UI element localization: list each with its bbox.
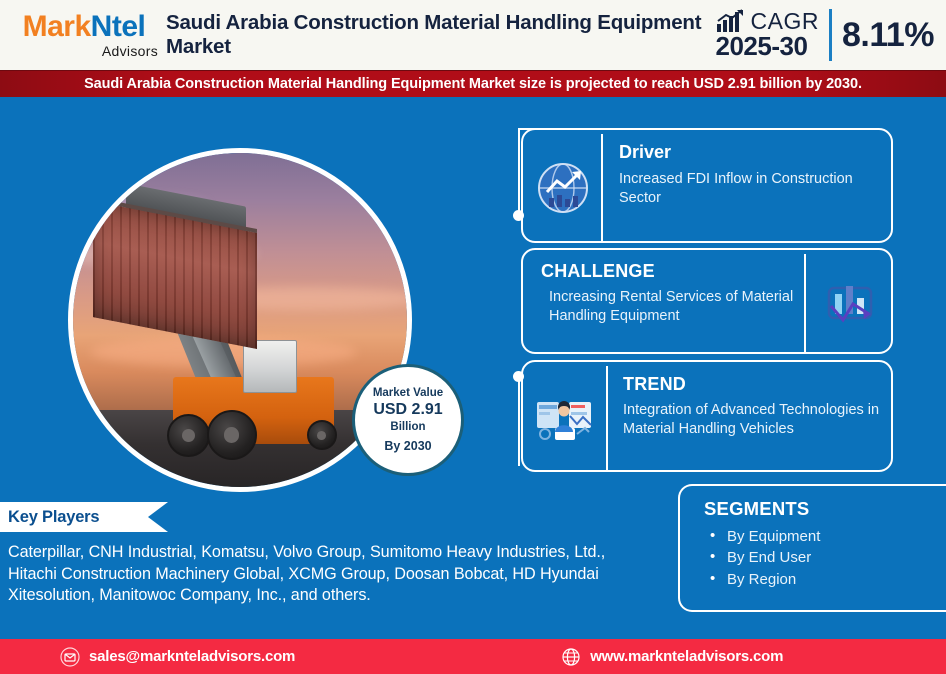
header-bar: MarkNtel Advisors Saudi Arabia Construct… [0,0,946,70]
segments-list: By Equipment By End User By Region [710,526,820,590]
globe-icon [561,647,581,667]
cagr-value: 8.11% [842,18,934,52]
segments-title: SEGMENTS [704,498,809,520]
infographic-page: MarkNtel Advisors Saudi Arabia Construct… [0,0,946,674]
card-divider [606,366,608,470]
driver-card[interactable]: Driver Increased FDI Inflow in Construct… [521,128,893,243]
person-dashboard-icon [533,394,595,442]
logo-wordmark: MarkNtel [23,12,146,42]
card-divider [804,254,806,352]
driver-card-title: Driver [619,142,671,163]
page-title: Saudi Arabia Construction Material Handl… [158,11,716,59]
market-value-badge: Market Value USD 2.91 Billion By 2030 [352,364,464,476]
market-value-year: By 2030 [384,439,431,454]
key-players-label: Key Players [0,508,99,527]
cagr-label-group: CAGR 2025-30 [716,9,829,60]
globe-growth-icon [537,162,589,214]
key-players-arrow-icon [148,502,168,532]
wheel-hub [182,429,195,442]
footer-email[interactable]: sales@marknteladvisors.com [60,647,295,667]
logo-tagline: Advisors [102,43,158,59]
market-value-amount: USD 2.91 [373,401,442,420]
logo-word-mark: Mark [23,10,91,43]
cagr-top-row: CAGR [716,9,819,33]
trend-card-description: Integration of Advanced Technologies in … [623,401,885,438]
footer-website-text: www.marknteladvisors.com [590,648,783,665]
logo-word-ntel: Ntel [91,10,146,43]
footer-website[interactable]: www.marknteladvisors.com [561,647,783,667]
connector-line [518,381,520,466]
wheel-hub [317,431,326,440]
wheel [307,420,337,450]
wheel [207,410,257,460]
footer-bar: sales@marknteladvisors.com www.markntela… [0,639,946,674]
cagr-label: CAGR [751,10,819,33]
challenge-card-description: Increasing Rental Services of Material H… [549,288,799,325]
challenge-card-title: CHALLENGE [541,261,655,282]
wheel-hub [224,427,240,443]
cagr-divider [829,9,832,61]
wheel [167,414,210,457]
card-divider [601,134,603,241]
trend-card[interactable]: TREND Integration of Advanced Technologi… [521,360,893,472]
market-value-label: Market Value [373,387,443,401]
market-value-unit: Billion [390,421,425,435]
key-players-banner: Key Players [0,502,148,532]
brand-logo[interactable]: MarkNtel Advisors [0,12,158,59]
footer-email-text: sales@marknteladvisors.com [89,648,295,665]
envelope-icon [60,647,80,667]
cagr-block: CAGR 2025-30 8.11% [716,0,946,70]
headline-banner: Saudi Arabia Construction Material Handl… [0,70,946,97]
headline-text: Saudi Arabia Construction Material Handl… [84,76,862,92]
segment-item[interactable]: By End User [710,547,820,568]
cagr-period: 2025-30 [716,33,808,60]
key-players-list: Caterpillar, CNH Industrial, Komatsu, Vo… [8,542,628,607]
bar-chart-trend-icon [716,9,746,33]
segment-item[interactable]: By Equipment [710,526,820,547]
connector-line [518,128,520,213]
trend-card-title: TREND [623,374,686,395]
challenge-card[interactable]: CHALLENGE Increasing Rental Services of … [521,248,893,354]
bar-chart-decline-icon [823,276,879,326]
segment-item[interactable]: By Region [710,569,820,590]
segments-card[interactable]: SEGMENTS By Equipment By End User By Reg… [678,484,946,612]
driver-card-description: Increased FDI Inflow in Construction Sec… [619,170,869,207]
